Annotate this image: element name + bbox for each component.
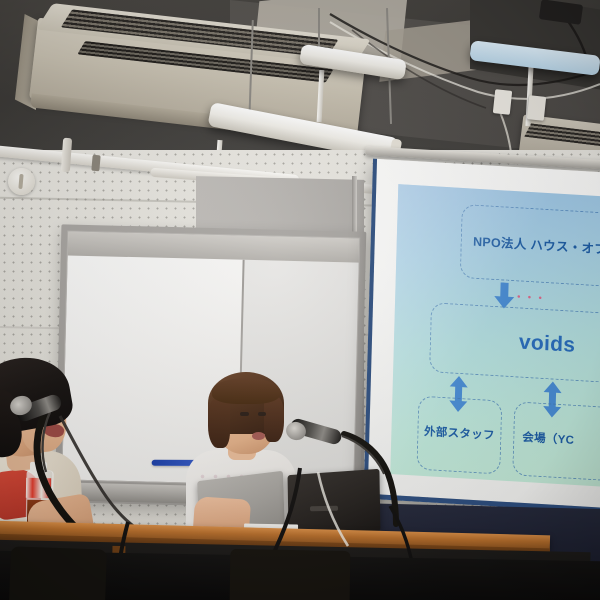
whiteboard-top-rail: [68, 231, 359, 262]
electrical-box: [527, 95, 546, 121]
electrical-box: [493, 89, 512, 115]
slide-node-npo: NPO法人 ハウス・オブ・アフリ: [460, 204, 600, 290]
chair: [230, 549, 351, 600]
speaker-right-eye: [240, 412, 249, 416]
speaker-right-mouth: [252, 432, 265, 440]
presentation-slide: NPO法人 ハウス・オブ・アフリ • • • voids 外部スタッフ 会場（Y…: [390, 184, 600, 488]
speaker-right-eye: [258, 412, 266, 416]
speaker-right-bangs: [212, 378, 280, 404]
presentation-room-photo: NPO法人 ハウス・オブ・アフリ • • • voids 外部スタッフ 会場（Y…: [0, 0, 600, 600]
pipe-clamp: [91, 155, 100, 172]
slide-annotation-dots: • • •: [517, 291, 544, 303]
ac-vent-grille: [524, 123, 600, 147]
slide-node-voids: voids: [429, 302, 600, 386]
speaker-right-hair-side: [208, 398, 230, 448]
arrow-down-icon: [493, 282, 516, 309]
chair: [9, 546, 107, 600]
